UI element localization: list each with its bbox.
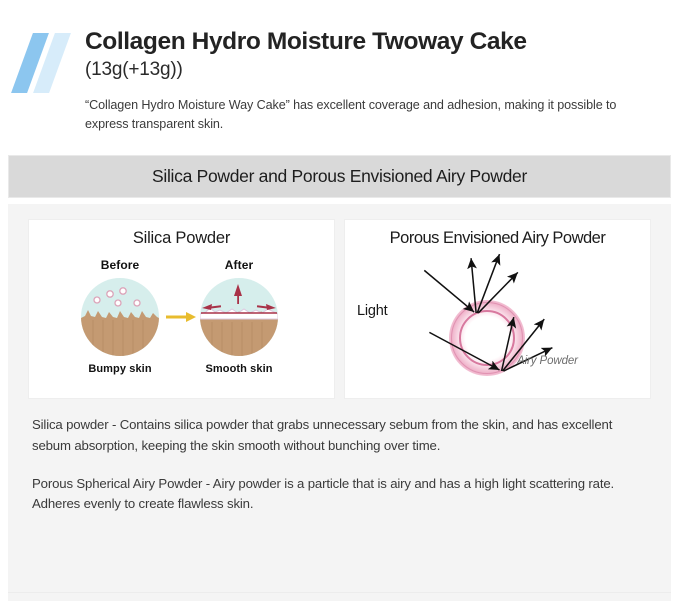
silica-paragraph: Silica powder - Contains silica powder t… — [32, 415, 647, 456]
before-label: Before — [77, 258, 163, 272]
product-header: Collagen Hydro Moisture Twoway Cake (13g… — [0, 0, 679, 133]
diagram-panels: Silica Powder Before After — [28, 219, 651, 399]
after-skin-illustration — [200, 278, 278, 356]
airy-powder-particle-icon — [449, 300, 525, 376]
body-copy: Silica powder - Contains silica powder t… — [28, 415, 651, 514]
before-skin-illustration — [81, 278, 159, 356]
silica-powder-panel: Silica Powder Before After — [28, 219, 335, 399]
after-label: After — [196, 258, 282, 272]
page-title: Collagen Hydro Moisture Twoway Cake — [85, 28, 657, 55]
section-band-wrapper: Silica Powder and Porous Envisioned Airy… — [0, 155, 679, 198]
content-shell: Silica Powder Before After — [8, 204, 671, 601]
airy-paragraph: Porous Spherical Airy Powder - Airy powd… — [32, 474, 647, 515]
after-caption: Smooth skin — [184, 363, 294, 375]
airy-panel-title: Porous Envisioned Airy Powder — [345, 220, 650, 248]
bottom-divider — [8, 592, 671, 593]
airy-diagram: Light — [345, 248, 650, 388]
section-band-title: Silica Powder and Porous Envisioned Airy… — [152, 166, 527, 187]
double-slash-logo-icon — [10, 30, 72, 92]
airy-powder-label: Airy Powder — [517, 355, 578, 367]
bumpy-skin-icon — [81, 278, 159, 356]
smooth-skin-icon — [200, 278, 278, 356]
transition-arrow-icon — [166, 311, 196, 323]
product-description: “Collagen Hydro Moisture Way Cake” has e… — [85, 96, 657, 133]
section-band: Silica Powder and Porous Envisioned Airy… — [8, 155, 671, 198]
title-block: Collagen Hydro Moisture Twoway Cake (13g… — [72, 28, 657, 133]
light-label: Light — [357, 303, 387, 319]
product-size: (13g(+13g)) — [85, 58, 657, 82]
silica-panel-title: Silica Powder — [29, 220, 334, 248]
silica-diagram: Before After — [29, 248, 334, 386]
before-caption: Bumpy skin — [65, 363, 175, 375]
airy-powder-panel: Porous Envisioned Airy Powder Light — [344, 219, 651, 399]
